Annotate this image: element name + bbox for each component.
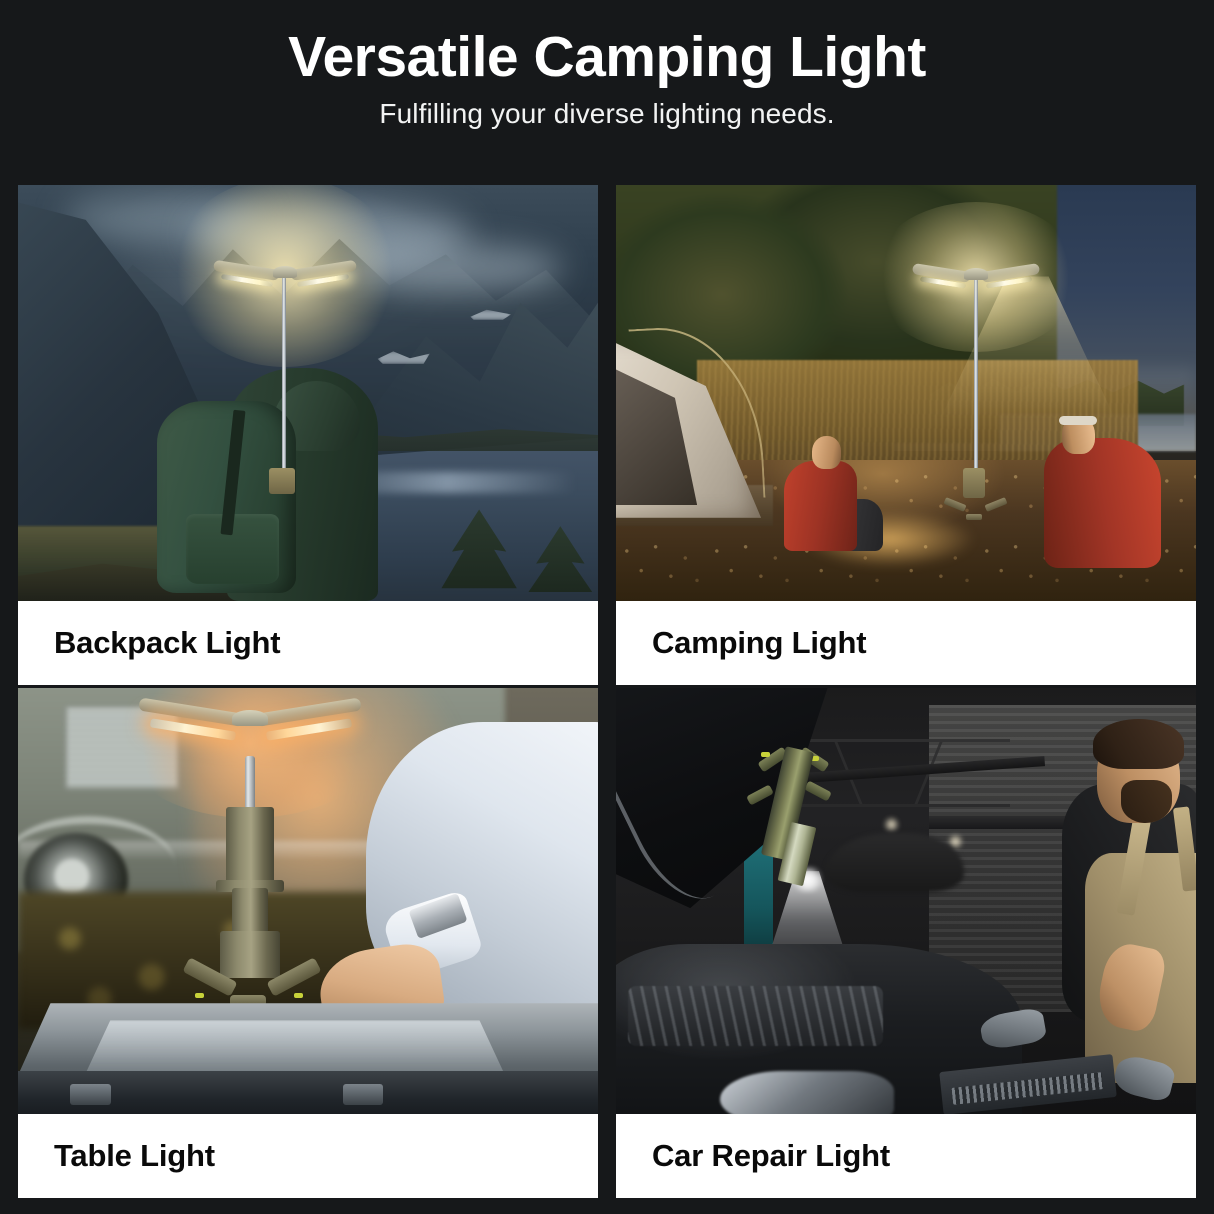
page-title: Versatile Camping Light bbox=[0, 26, 1214, 90]
photo-backpack-light bbox=[18, 185, 598, 601]
caption-label: Car Repair Light bbox=[652, 1138, 890, 1174]
tripod-leg bbox=[966, 514, 982, 520]
case-latch bbox=[70, 1084, 111, 1105]
case-latch bbox=[343, 1084, 384, 1105]
feature-card-backpack[interactable]: Backpack Light bbox=[18, 185, 598, 685]
feature-card-camping[interactable]: Camping Light bbox=[616, 185, 1196, 685]
mechanic-hair bbox=[1093, 719, 1184, 769]
product-feature-page: Versatile Camping Light Fulfilling your … bbox=[0, 0, 1214, 1214]
telescoping-pole bbox=[282, 277, 286, 477]
telescoping-pole bbox=[974, 279, 978, 487]
rv-window bbox=[64, 705, 180, 790]
feature-card-car-repair[interactable]: Car Repair Light bbox=[616, 688, 1196, 1198]
ceiling-lamp bbox=[883, 816, 900, 833]
led-indicator bbox=[761, 752, 770, 757]
car-headlight bbox=[720, 1071, 894, 1114]
caption-label: Table Light bbox=[54, 1138, 215, 1174]
camper-headband bbox=[1059, 416, 1097, 425]
camper-red-jacket bbox=[784, 461, 857, 551]
photo-table-light bbox=[18, 688, 598, 1114]
photo-car-repair-light bbox=[616, 688, 1196, 1114]
led-indicator bbox=[294, 993, 303, 998]
photo-camping-light bbox=[616, 185, 1196, 601]
lamp-lower-body bbox=[220, 931, 280, 978]
led-indicator bbox=[195, 993, 204, 998]
caption-bar-car-repair: Car Repair Light bbox=[616, 1114, 1196, 1198]
lamp-base-block bbox=[269, 468, 295, 494]
engine-components bbox=[628, 986, 883, 1046]
lamp-top-cap bbox=[964, 268, 988, 280]
feature-grid: Backpack Light bbox=[18, 185, 1196, 1198]
caption-label: Backpack Light bbox=[54, 625, 280, 661]
camper-red-jacket bbox=[1044, 438, 1161, 568]
page-header: Versatile Camping Light Fulfilling your … bbox=[0, 0, 1214, 178]
page-subtitle: Fulfilling your diverse lighting needs. bbox=[0, 98, 1214, 130]
caption-bar-table: Table Light bbox=[18, 1114, 598, 1198]
background-vehicle bbox=[825, 833, 964, 893]
mechanic-beard bbox=[1121, 780, 1172, 822]
caption-bar-camping: Camping Light bbox=[616, 601, 1196, 685]
camper-head bbox=[812, 436, 842, 468]
case-lid-panel bbox=[76, 1020, 505, 1075]
lamp-mid-body bbox=[232, 888, 268, 935]
feature-card-table[interactable]: Table Light bbox=[18, 688, 598, 1198]
lamp-base-block bbox=[963, 468, 985, 498]
lamp-top-cap bbox=[273, 266, 297, 278]
lamp-upper-body bbox=[226, 807, 274, 884]
camper-left bbox=[784, 426, 883, 551]
camper-right bbox=[1034, 410, 1162, 568]
lamp-top-cap bbox=[232, 710, 268, 726]
cloud-decor bbox=[343, 243, 563, 293]
caption-bar-backpack: Backpack Light bbox=[18, 601, 598, 685]
caption-label: Camping Light bbox=[652, 625, 866, 661]
